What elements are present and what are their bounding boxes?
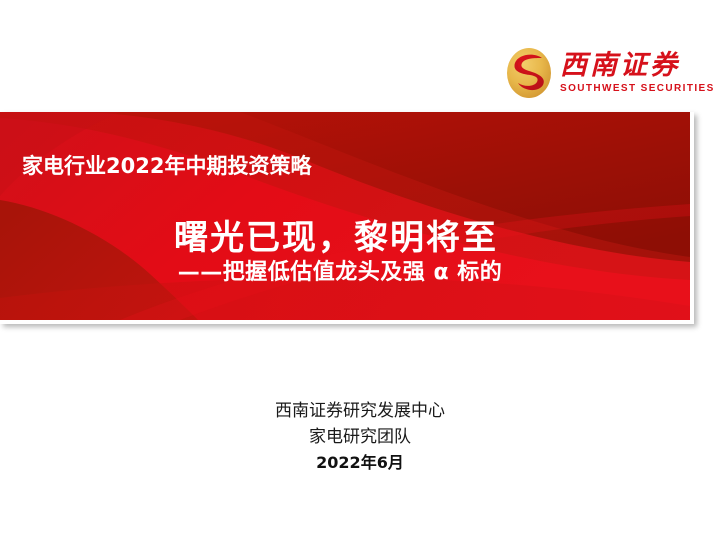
slide-subheadline: ——把握低估值龙头及强 α 标的 — [0, 254, 680, 286]
logo-chinese-name: 西南证券 — [560, 52, 715, 80]
footer-org-line: 西南证券研究发展中心 — [0, 398, 720, 424]
logo-english-name: SOUTHWEST SECURITIES — [560, 83, 715, 94]
logo-wordmark: 西南证券 SOUTHWEST SECURITIES — [560, 52, 715, 93]
footer-team-line: 家电研究团队 — [0, 424, 720, 450]
slide-headline: 曙光已现，黎明将至 — [0, 210, 672, 259]
title-banner: 家电行业2022年中期投资策略 曙光已现，黎明将至 ——把握低估值龙头及强 α … — [0, 112, 690, 320]
slide-footer: 西南证券研究发展中心 家电研究团队 2022年6月 — [0, 398, 720, 476]
brand-logo: 西南证券 SOUTHWEST SECURITIES — [504, 42, 700, 104]
banner-text-group: 家电行业2022年中期投资策略 曙光已现，黎明将至 ——把握低估值龙头及强 α … — [0, 112, 690, 320]
southwest-securities-swirl-emblem — [504, 46, 554, 100]
cover-slide: 西南证券 SOUTHWEST SECURITIES — [0, 0, 720, 540]
slide-kicker: 家电行业2022年中期投资策略 — [22, 150, 311, 180]
footer-date: 2022年6月 — [0, 450, 720, 476]
